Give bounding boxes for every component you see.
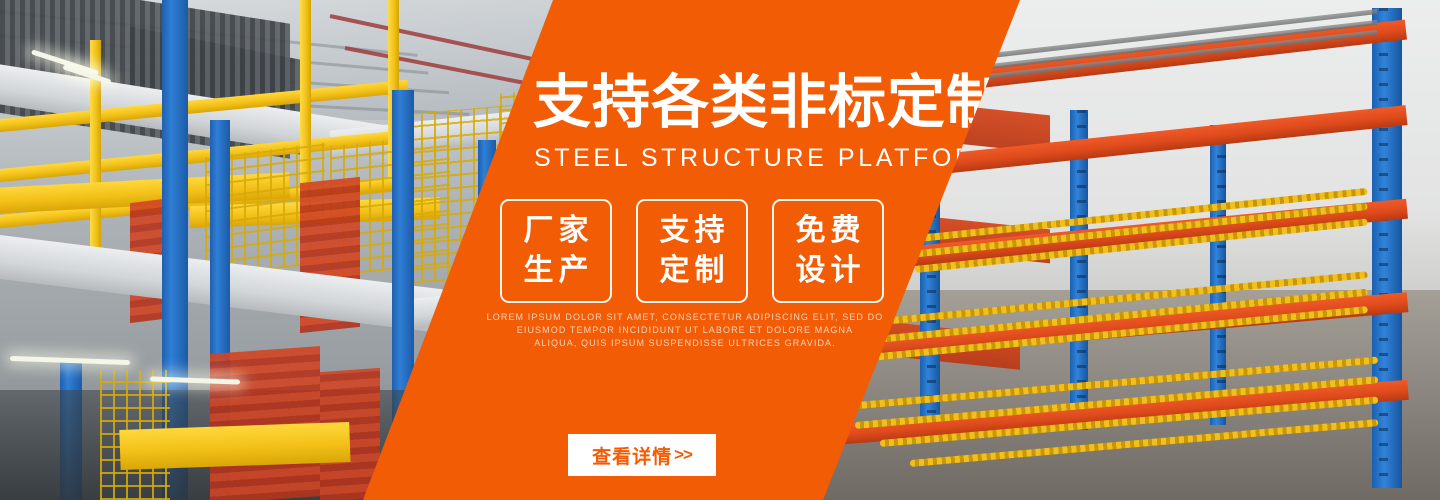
feature-badge-custom: 支持 定制 <box>636 199 748 303</box>
badge-line-2: 生产 <box>519 251 594 291</box>
badge-line-1: 支持 <box>655 211 730 251</box>
view-details-label: 查看详情 <box>592 442 672 469</box>
chevron-right-icon: >> <box>674 445 692 465</box>
feature-badge-group: 厂家 生产 支持 定制 免费 设计 <box>500 199 884 303</box>
description-line-1: LOREM IPSUM DOLOR SIT AMET, CONSECTETUR … <box>470 311 900 324</box>
feature-badge-manufacturer: 厂家 生产 <box>500 199 612 303</box>
subtitle: STEEL STRUCTURE PLATFORM <box>534 143 974 173</box>
page-title: 支持各类非标定制 <box>533 72 973 134</box>
badge-line-1: 厂家 <box>519 211 594 251</box>
description-text: LOREM IPSUM DOLOR SIT AMET, CONSECTETUR … <box>470 311 900 350</box>
feature-badge-free-design: 免费 设计 <box>772 199 884 303</box>
badge-line-2: 定制 <box>655 251 730 291</box>
badge-line-1: 免费 <box>791 211 866 251</box>
badge-line-2: 设计 <box>791 251 866 291</box>
rack-upright <box>1210 125 1226 425</box>
description-line-3: ALIQUA, QUIS IPSUM SUSPENDISSE ULTRICES … <box>470 337 900 350</box>
view-details-button[interactable]: 查看详情 >> <box>568 434 716 476</box>
rack-upright <box>1372 8 1402 488</box>
yellow-panel <box>119 422 350 470</box>
promo-banner: 支持各类非标定制 STEEL STRUCTURE PLATFORM 厂家 生产 … <box>0 0 1440 500</box>
description-line-2: EIUSMOD TEMPOR INCIDIDUNT UT LABORE ET D… <box>470 324 900 337</box>
